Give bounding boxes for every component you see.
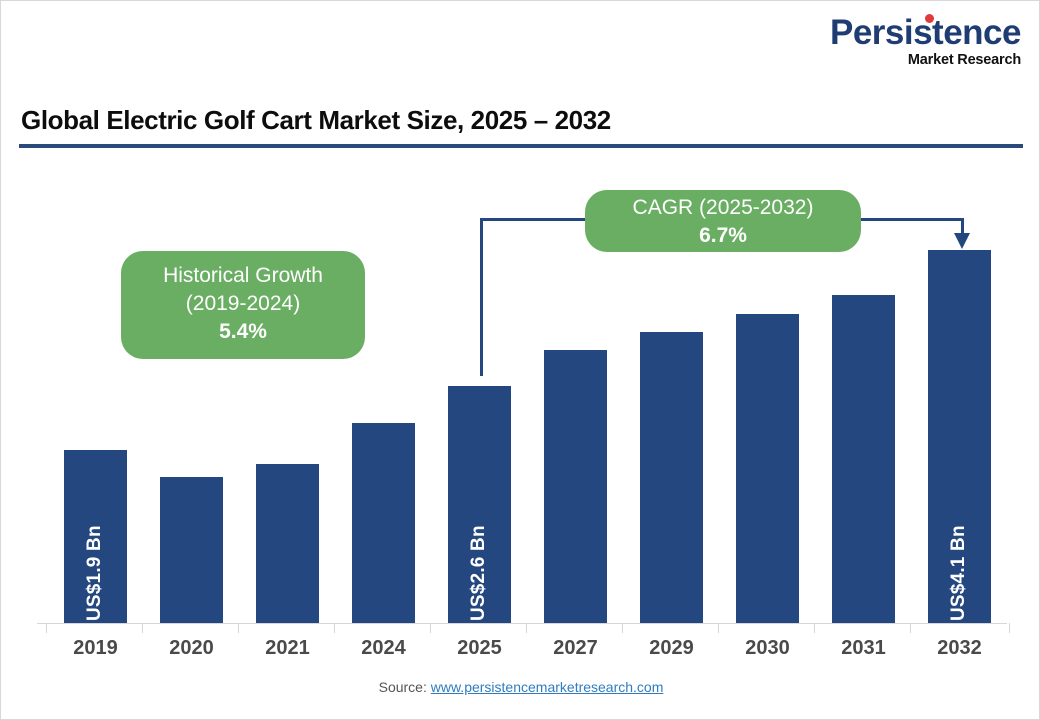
x-axis-tick (814, 623, 815, 633)
source-link[interactable]: www.persistencemarketresearch.com (431, 679, 664, 695)
historical-growth-value: 5.4% (121, 318, 365, 346)
x-axis-tick (46, 623, 47, 633)
historical-growth-line2: (2019-2024) (121, 290, 365, 318)
bar-chart-plot-area: US$1.9 Bn2019202020212024US$2.6 Bn202520… (1, 1, 1040, 720)
bar-2020[interactable] (160, 477, 223, 623)
historical-growth-callout: Historical Growth (2019-2024) 5.4% (121, 251, 365, 359)
cagr-callout: CAGR (2025-2032) 6.7% (585, 190, 861, 252)
x-axis-label-2032: 2032 (912, 637, 1008, 660)
bar-value-label-2025: US$2.6 Bn (468, 525, 490, 621)
source-prefix: Source: (379, 679, 431, 695)
x-axis-tick (622, 623, 623, 633)
x-axis-tick (334, 623, 335, 633)
bar-2031[interactable] (832, 295, 895, 623)
cagr-line1: CAGR (2025-2032) (585, 194, 861, 222)
x-axis-tick (718, 623, 719, 633)
x-axis-tick (1009, 623, 1010, 633)
bar-2024[interactable] (352, 423, 415, 623)
x-axis-label-2025: 2025 (432, 637, 528, 660)
x-axis-tick (910, 623, 911, 633)
bar-2030[interactable] (736, 314, 799, 623)
x-axis-label-2030: 2030 (720, 637, 816, 660)
x-axis-tick (526, 623, 527, 633)
x-axis-label-2031: 2031 (816, 637, 912, 660)
historical-growth-line1: Historical Growth (121, 262, 365, 290)
cagr-value: 6.7% (585, 222, 861, 250)
x-axis-label-2024: 2024 (336, 637, 432, 660)
bar-value-label-2032: US$4.1 Bn (948, 525, 970, 621)
x-axis-tick (430, 623, 431, 633)
chart-canvas: Persistence Market Research Global Elect… (0, 0, 1040, 720)
x-axis-label-2027: 2027 (528, 637, 624, 660)
cagr-arrow-icon (954, 233, 970, 249)
bar-2021[interactable] (256, 464, 319, 623)
source-note: Source: www.persistencemarketresearch.co… (1, 679, 1040, 695)
x-axis-label-2019: 2019 (48, 637, 144, 660)
x-axis-tick (142, 623, 143, 633)
x-axis-line (37, 623, 1007, 624)
bar-2027[interactable] (544, 350, 607, 623)
bar-2029[interactable] (640, 332, 703, 623)
x-axis-tick (238, 623, 239, 633)
x-axis-label-2029: 2029 (624, 637, 720, 660)
bar-value-label-2019: US$1.9 Bn (84, 525, 106, 621)
cagr-connector-left (480, 218, 483, 376)
x-axis-label-2021: 2021 (240, 637, 336, 660)
x-axis-label-2020: 2020 (144, 637, 240, 660)
